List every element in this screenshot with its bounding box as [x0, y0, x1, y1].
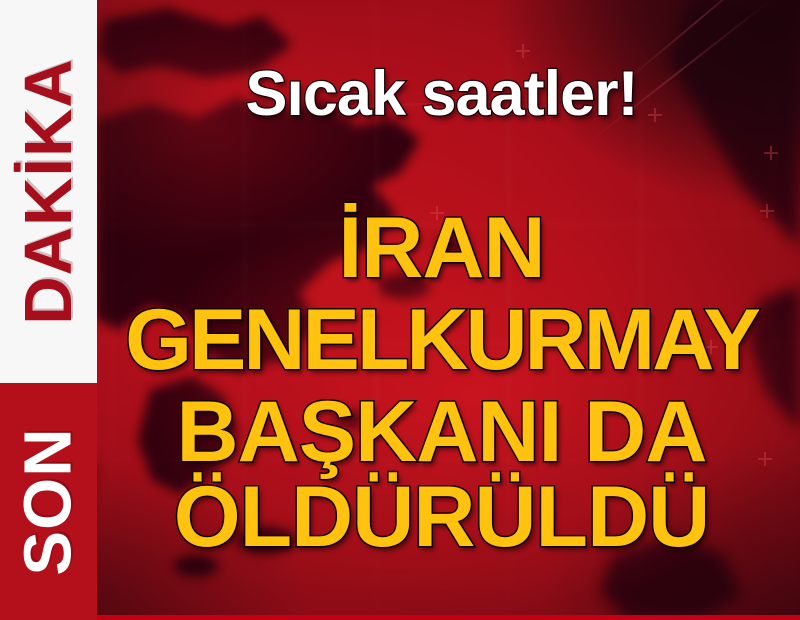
rail-label-dakika: DAKİKA — [15, 58, 82, 325]
breaking-news-rail: DAKİKA SON — [0, 0, 97, 620]
rail-segment-son: SON — [0, 383, 97, 620]
headline-line-3: BAŞKANI DA — [97, 389, 786, 475]
rail-label-son: SON — [15, 427, 82, 575]
headline-line-1: İRAN — [97, 205, 786, 291]
rail-segment-dakika: DAKİKA — [0, 0, 97, 383]
breaking-news-banner: DAKİKA SON Sıcak saatler! İRAN GENELKURM… — [0, 0, 800, 620]
kicker-text: Sıcak saatler! — [97, 63, 786, 126]
headline-block: Sıcak saatler! İRAN GENELKURMAY BAŞKANI … — [97, 0, 800, 620]
headline-line-2: GENELKURMAY — [97, 297, 786, 383]
headline-line-4: ÖLDÜRÜLDÜ — [97, 474, 786, 560]
